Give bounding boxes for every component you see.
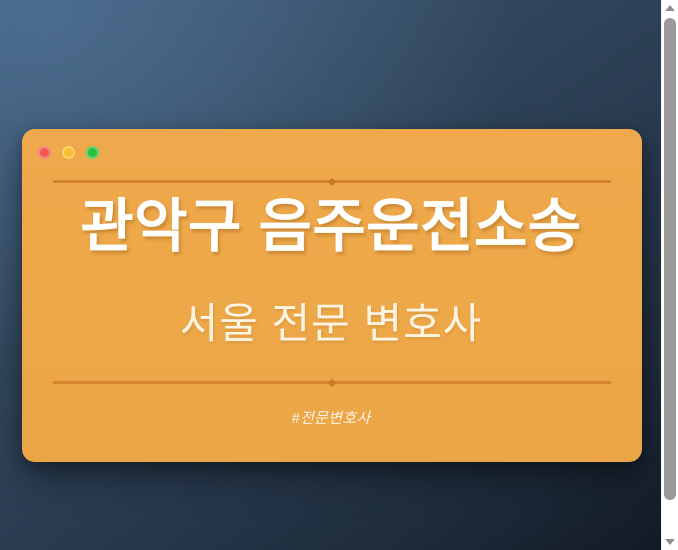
chevron-up-icon xyxy=(665,5,675,11)
page-background: 관악구 음주운전소송 서울 전문 변호사 #전문변호사 xyxy=(0,0,662,550)
close-dot-icon[interactable] xyxy=(38,146,51,159)
divider-top xyxy=(53,180,611,183)
slide-subtitle: 서울 전문 변호사 xyxy=(0,300,662,348)
window-controls xyxy=(38,146,99,159)
scroll-down-button[interactable] xyxy=(662,534,678,550)
maximize-dot-icon[interactable] xyxy=(86,146,99,159)
vertical-scrollbar[interactable] xyxy=(661,0,678,550)
slide-title: 관악구 음주운전소송 xyxy=(0,196,662,259)
slide-hashtag: #전문변호사 xyxy=(0,407,662,428)
divider-bottom xyxy=(53,381,611,384)
viewport: 관악구 음주운전소송 서울 전문 변호사 #전문변호사 xyxy=(0,0,678,550)
chevron-down-icon xyxy=(665,539,675,545)
scroll-up-button[interactable] xyxy=(662,0,678,16)
scrollbar-thumb[interactable] xyxy=(664,18,676,500)
minimize-dot-icon[interactable] xyxy=(62,146,75,159)
